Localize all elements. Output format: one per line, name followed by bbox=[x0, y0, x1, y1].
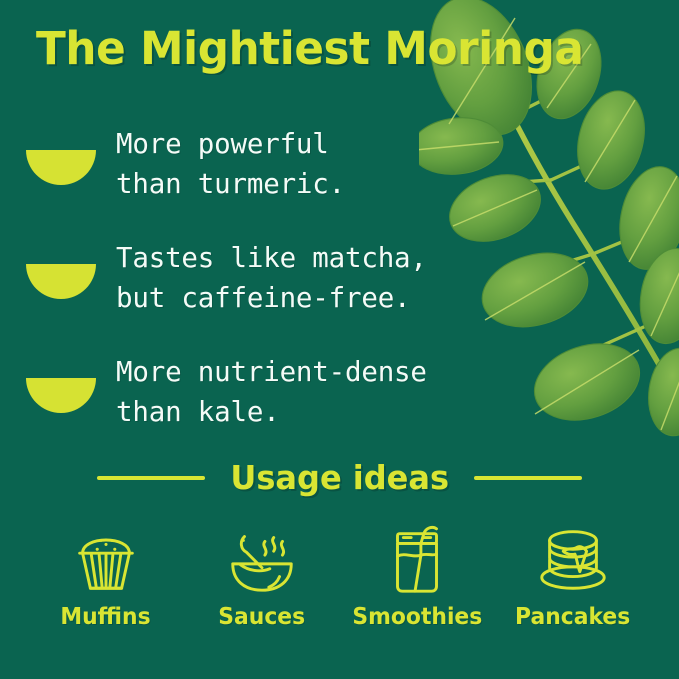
usage-label: Sauces bbox=[218, 604, 305, 630]
pancake-stack-icon bbox=[534, 520, 612, 598]
list-item: Tastes like matcha, but caffeine-free. bbox=[26, 238, 546, 326]
usage-heading: Usage ideas bbox=[230, 458, 449, 497]
half-disc-bullet-icon bbox=[26, 150, 96, 185]
divider-right bbox=[474, 476, 582, 480]
usage-label: Muffins bbox=[61, 604, 151, 630]
list-item: More nutrient-dense than kale. bbox=[26, 352, 546, 440]
usage-ideas-row: Muffins Sauces bbox=[0, 520, 679, 630]
muffin-icon bbox=[67, 520, 145, 598]
divider-left bbox=[97, 476, 205, 480]
bowl-with-spoon-icon bbox=[223, 520, 301, 598]
page-title: The Mightiest Moringa bbox=[36, 22, 637, 75]
benefit-text: Tastes like matcha, but caffeine-free. bbox=[116, 238, 546, 318]
usage-heading-band: Usage ideas bbox=[0, 458, 679, 497]
half-disc-bullet-icon bbox=[26, 378, 96, 413]
poster: The Mightiest Moringa More powerful than… bbox=[0, 0, 679, 679]
mason-jar-with-straw-icon bbox=[378, 520, 456, 598]
usage-item-pancakes: Pancakes bbox=[498, 520, 648, 630]
usage-label: Smoothies bbox=[352, 604, 482, 630]
usage-label: Pancakes bbox=[516, 604, 631, 630]
usage-item-muffins: Muffins bbox=[31, 520, 181, 630]
benefits-list: More powerful than turmeric. Tastes like… bbox=[26, 124, 546, 466]
half-disc-bullet-icon bbox=[26, 264, 96, 299]
benefit-text: More nutrient-dense than kale. bbox=[116, 352, 546, 432]
list-item: More powerful than turmeric. bbox=[26, 124, 546, 212]
usage-item-sauces: Sauces bbox=[187, 520, 337, 630]
benefit-text: More powerful than turmeric. bbox=[116, 124, 546, 204]
usage-item-smoothies: Smoothies bbox=[342, 520, 492, 630]
